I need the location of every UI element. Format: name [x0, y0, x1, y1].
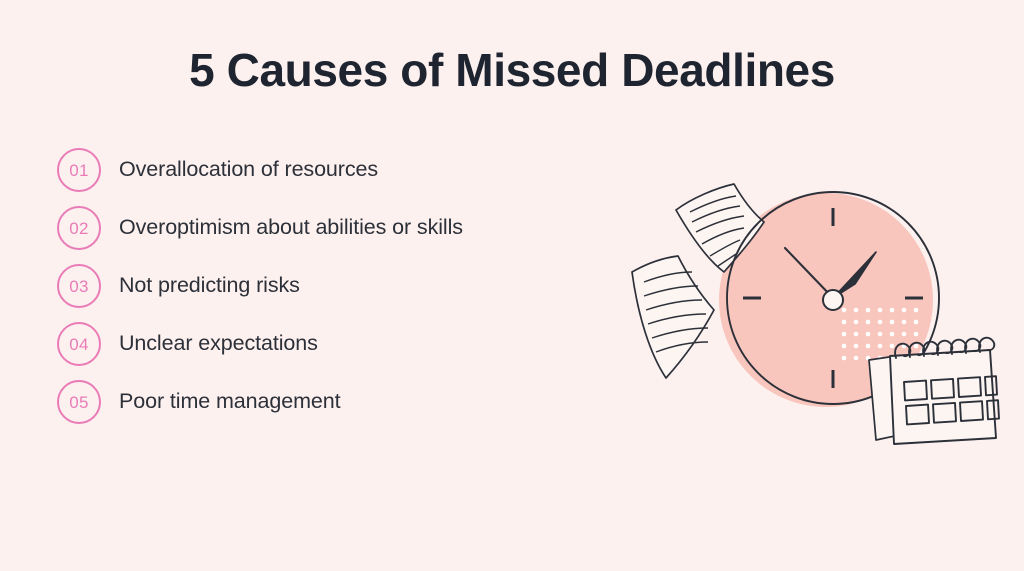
calendar-front-page: [890, 350, 996, 444]
cause-text: Poor time management: [119, 389, 340, 415]
cause-number-label: 03: [69, 278, 89, 295]
page-title: 5 Causes of Missed Deadlines: [0, 46, 1024, 94]
cause-number-badge: 02: [57, 206, 101, 250]
cause-number-badge: 05: [57, 380, 101, 424]
cause-number-badge: 01: [57, 148, 101, 192]
clock-papers-calendar-illustration: [604, 160, 1004, 450]
list-item: 01 Overallocation of resources: [57, 141, 617, 199]
list-item: 03 Not predicting risks: [57, 257, 617, 315]
cause-number-label: 01: [69, 162, 89, 179]
clock-center-hub: [823, 290, 843, 310]
cause-number-badge: 03: [57, 264, 101, 308]
causes-list: 01 Overallocation of resources 02 Overop…: [57, 141, 617, 431]
list-item: 04 Unclear expectations: [57, 315, 617, 373]
paper-sheet-icon: [632, 256, 714, 378]
cause-number-badge: 04: [57, 322, 101, 366]
cause-text: Overoptimism about abilities or skills: [119, 215, 463, 241]
cause-number-label: 04: [69, 336, 89, 353]
cause-text: Not predicting risks: [119, 273, 300, 299]
infographic-canvas: 5 Causes of Missed Deadlines 01 Overallo…: [0, 0, 1024, 571]
list-item: 02 Overoptimism about abilities or skill…: [57, 199, 617, 257]
cause-text: Unclear expectations: [119, 331, 318, 357]
cause-text: Overallocation of resources: [119, 157, 378, 183]
cause-number-label: 05: [69, 394, 89, 411]
list-item: 05 Poor time management: [57, 373, 617, 431]
cause-number-label: 02: [69, 220, 89, 237]
